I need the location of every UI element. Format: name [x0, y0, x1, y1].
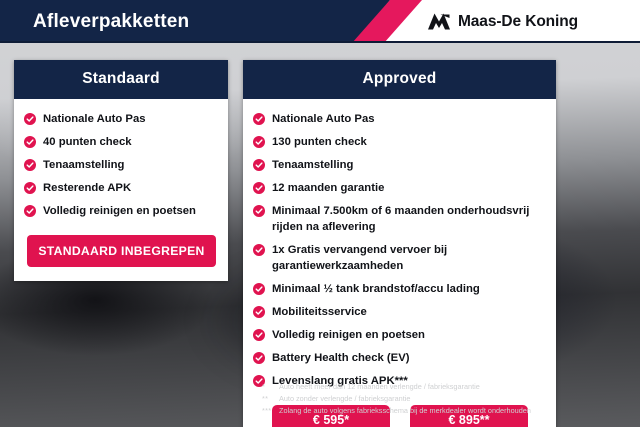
list-item: Minimaal ½ tank brandstof/accu lading — [253, 281, 547, 297]
footnotes: * Auto heeft meer dan 12 maanden verleng… — [262, 381, 632, 416]
check-circle-icon — [24, 205, 36, 217]
page-title: Afleverpakketten — [33, 0, 189, 43]
footnote-text: Zolang de auto volgens fabrieksschema bi… — [279, 405, 632, 417]
check-circle-icon — [24, 136, 36, 148]
footnote-text: Auto heeft meer dan 12 maanden verlengde… — [279, 381, 632, 393]
check-circle-icon — [24, 159, 36, 171]
package-card-approved: Approved Nationale Auto Pas 130 punten c… — [243, 60, 556, 427]
check-circle-icon — [253, 113, 265, 125]
list-item: 1x Gratis vervangend vervoer bij garanti… — [253, 242, 547, 274]
list-item: 40 punten check — [24, 134, 219, 150]
feature-label-line2: rijden na aflevering — [272, 219, 529, 235]
list-item: Battery Health check (EV) — [253, 350, 547, 366]
footnote-marker: *** — [262, 405, 274, 417]
feature-label: Tenaamstelling — [43, 157, 124, 173]
list-item: Nationale Auto Pas — [24, 111, 219, 127]
feature-label: Battery Health check (EV) — [272, 350, 410, 366]
feature-list-approved: Nationale Auto Pas 130 punten check Tena… — [253, 111, 547, 389]
brand-logo: Maas-De Koning — [427, 0, 578, 43]
card-heading-approved: Approved — [243, 60, 556, 99]
list-item: 130 punten check — [253, 134, 547, 150]
list-item: Nationale Auto Pas — [253, 111, 547, 127]
standaard-inbegrepen-button[interactable]: STANDAARD INBEGREPEN — [27, 235, 216, 267]
list-item: Minimaal 7.500km of 6 maanden onderhouds… — [253, 203, 547, 235]
footnote-row: *** Zolang de auto volgens fabrieksschem… — [262, 405, 632, 417]
check-circle-icon — [253, 329, 265, 341]
list-item: Tenaamstelling — [253, 157, 547, 173]
check-circle-icon — [253, 182, 265, 194]
feature-label: Minimaal ½ tank brandstof/accu lading — [272, 281, 480, 297]
header-underline — [0, 41, 640, 43]
maas-de-koning-m-mark-icon — [427, 13, 451, 30]
check-circle-icon — [253, 136, 265, 148]
check-circle-icon — [253, 205, 265, 217]
feature-label: 40 punten check — [43, 134, 132, 150]
list-item: Mobiliteitsservice — [253, 304, 547, 320]
feature-label: Volledig reinigen en poetsen — [43, 203, 196, 219]
list-item: Resterende APK — [24, 180, 219, 196]
feature-list-standaard: Nationale Auto Pas 40 punten check Tenaa… — [24, 111, 219, 219]
package-card-standaard: Standaard Nationale Auto Pas 40 punten c… — [14, 60, 228, 281]
feature-label: Minimaal 7.500km of 6 maanden onderhouds… — [272, 203, 529, 235]
page-header: Afleverpakketten Maas-De Koning — [0, 0, 640, 43]
list-item: Volledig reinigen en poetsen — [24, 203, 219, 219]
check-circle-icon — [253, 159, 265, 171]
list-item: Volledig reinigen en poetsen — [253, 327, 547, 343]
feature-label: Nationale Auto Pas — [272, 111, 375, 127]
check-circle-icon — [24, 182, 36, 194]
card-heading-standaard: Standaard — [14, 60, 228, 99]
feature-label-line1: Minimaal 7.500km of 6 maanden onderhouds… — [272, 203, 529, 219]
check-circle-icon — [253, 244, 265, 256]
check-circle-icon — [253, 306, 265, 318]
feature-label: 1x Gratis vervangend vervoer bij garanti… — [272, 242, 547, 274]
feature-label: Nationale Auto Pas — [43, 111, 146, 127]
check-circle-icon — [253, 352, 265, 364]
list-item: Tenaamstelling — [24, 157, 219, 173]
feature-label: 130 punten check — [272, 134, 367, 150]
feature-label: 12 maanden garantie — [272, 180, 384, 196]
footnote-marker: * — [262, 381, 274, 393]
screenshot-root: Afleverpakketten Maas-De Koning Standaar… — [0, 0, 640, 427]
check-circle-icon — [24, 113, 36, 125]
standaard-cta-row: STANDAARD INBEGREPEN — [24, 235, 219, 267]
feature-label: Volledig reinigen en poetsen — [272, 327, 425, 343]
feature-label: Resterende APK — [43, 180, 131, 196]
footnote-text: Auto zonder verlengde / fabrieksgarantie — [279, 393, 632, 405]
feature-label: Mobiliteitsservice — [272, 304, 367, 320]
footnote-row: * Auto heeft meer dan 12 maanden verleng… — [262, 381, 632, 393]
footnote-row: ** Auto zonder verlengde / fabrieksgaran… — [262, 393, 632, 405]
footnote-marker: ** — [262, 393, 274, 405]
list-item: 12 maanden garantie — [253, 180, 547, 196]
feature-label: Tenaamstelling — [272, 157, 353, 173]
card-body-standaard: Nationale Auto Pas 40 punten check Tenaa… — [14, 99, 228, 281]
brand-name: Maas-De Koning — [458, 13, 578, 31]
check-circle-icon — [253, 283, 265, 295]
card-body-approved: Nationale Auto Pas 130 punten check Tena… — [243, 99, 556, 427]
